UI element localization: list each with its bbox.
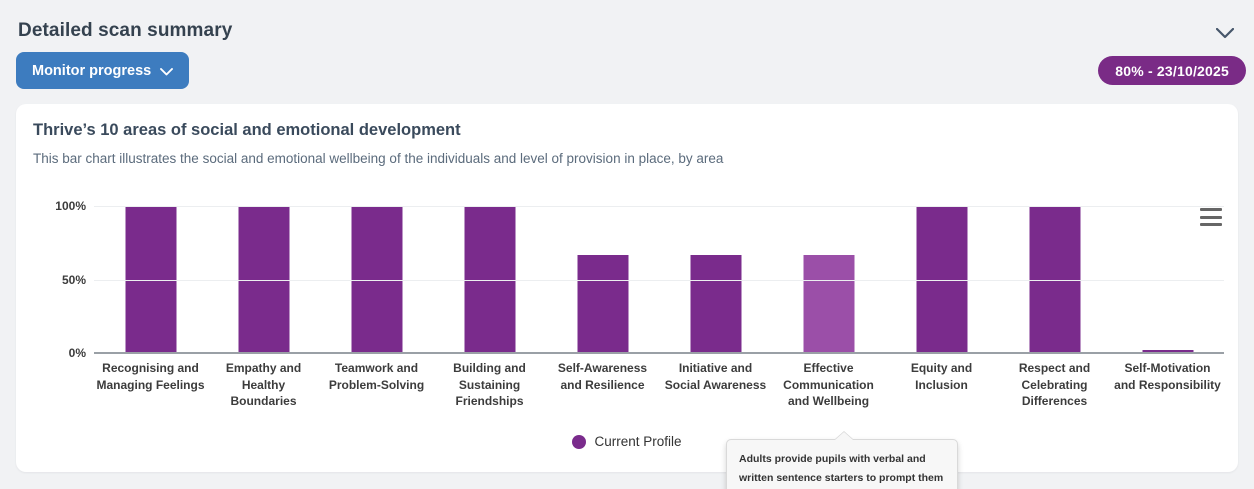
chart-title: Thrive’s 10 areas of social and emotiona… [33,121,461,140]
legend-color-swatch [572,435,586,449]
detailed-scan-summary-panel: Detailed scan summary Monitor progress 8… [0,0,1254,489]
x-axis-tick-label: Empathy and Healthy Boundaries [207,360,320,410]
y-axis-tick-label: 0% [26,346,86,360]
chart-gridline [94,280,1224,281]
chart-gridline [94,206,1224,207]
page-title: Detailed scan summary [18,20,232,42]
x-axis-line [94,352,1224,354]
chart-subtitle: This bar chart illustrates the social an… [33,151,723,166]
bar-chart: 0%50%100% Recognising and Managing Feeli… [16,182,1238,472]
x-axis-tick-label: Self-Motivation and Responsibility [1111,360,1224,410]
chart-tooltip: Adults provide pupils with verbal and wr… [726,439,958,489]
x-axis-labels: Recognising and Managing FeelingsEmpathy… [94,360,1224,410]
chart-plot-area [94,206,1224,353]
y-axis-tick-label: 100% [26,199,86,213]
x-axis-tick-label: Effective Communication and Wellbeing [772,360,885,410]
chart-bar[interactable] [803,255,854,353]
x-axis-tick-label: Self-Awareness and Resilience [546,360,659,410]
chart-bar[interactable] [577,255,628,353]
x-axis-tick-label: Initiative and Social Awareness [659,360,772,410]
monitor-progress-label: Monitor progress [32,63,151,79]
status-badge-label: 80% - 23/10/2025 [1115,63,1229,79]
tooltip-text: Adults provide pupils with verbal and wr… [739,450,945,489]
chart-card: Thrive’s 10 areas of social and emotiona… [16,104,1238,472]
x-axis-tick-label: Respect and Celebrating Differences [998,360,1111,410]
chevron-down-icon[interactable] [1212,22,1238,44]
x-axis-tick-label: Equity and Inclusion [885,360,998,410]
monitor-progress-button[interactable]: Monitor progress [16,52,189,89]
x-axis-tick-label: Recognising and Managing Feelings [94,360,207,410]
panel-header: Detailed scan summary Monitor progress 8… [0,0,1254,98]
status-badge: 80% - 23/10/2025 [1098,56,1246,85]
chart-bar[interactable] [690,255,741,353]
x-axis-tick-label: Teamwork and Problem-Solving [320,360,433,410]
chart-legend[interactable]: Current Profile [16,434,1238,449]
legend-item-label: Current Profile [594,434,681,449]
y-axis-tick-label: 50% [26,273,86,287]
tooltip-arrow [835,432,853,440]
x-axis-tick-label: Building and Sustaining Friendships [433,360,546,410]
chevron-down-icon [160,64,173,80]
